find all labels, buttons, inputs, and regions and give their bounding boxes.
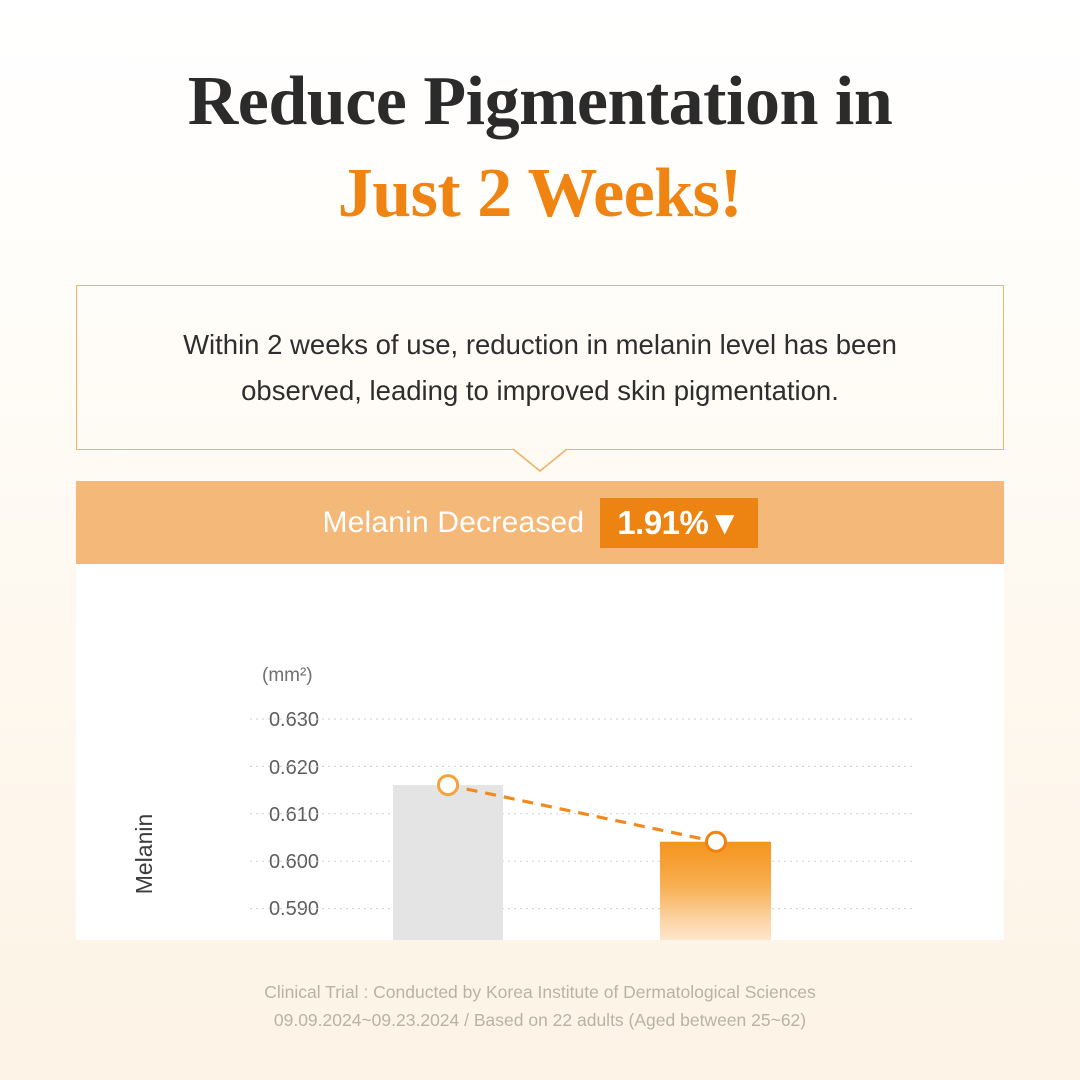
title-line-primary: Reduce Pigmentation in: [0, 56, 1080, 148]
y-tick-label: 0.620: [269, 757, 319, 779]
y-tick-label: 0.600: [269, 851, 319, 873]
callout-frame: Within 2 weeks of use, reduction in mela…: [76, 285, 1004, 450]
bar-after-2-weeks: [660, 842, 771, 940]
footer-note: Clinical Trial : Conducted by Korea Inst…: [0, 978, 1080, 1035]
page-title: Reduce Pigmentation in Just 2 Weeks!: [0, 0, 1080, 241]
callout-notch-icon: [512, 448, 568, 472]
callout-notch-mask: [513, 447, 567, 451]
y-axis-title: Melanin: [131, 814, 157, 895]
callout-text: Within 2 weeks of use, reduction in mela…: [125, 322, 955, 413]
bar-before: [393, 785, 503, 940]
y-axis-tick-labels: 0.630 0.620 0.610 0.600 0.590 0.580: [269, 709, 319, 940]
footer-line-1: Clinical Trial : Conducted by Korea Inst…: [0, 978, 1080, 1006]
chart-card: Melanin Decreased 1.91%▼ (mm²) 0.630 0.6…: [76, 481, 1004, 940]
banner-label: Melanin Decreased: [322, 506, 584, 540]
y-tick-label: 0.610: [269, 804, 319, 826]
status-badge: 1.91%▼: [600, 498, 757, 548]
chart-svg: (mm²) 0.630 0.620 0.610 0.600 0.590 0.58…: [76, 564, 1004, 940]
footer-line-2: 09.09.2024~09.23.2024 / Based on 22 adul…: [0, 1006, 1080, 1034]
y-tick-label: 0.630: [269, 709, 319, 731]
title-line-accent: Just 2 Weeks!: [0, 148, 1080, 240]
melanin-bar-chart: (mm²) 0.630 0.620 0.610 0.600 0.590 0.58…: [76, 564, 1004, 940]
y-axis-unit-label: (mm²): [262, 665, 313, 686]
data-point-after-2-weeks: [707, 832, 726, 851]
callout-box: Within 2 weeks of use, reduction in mela…: [76, 285, 1004, 450]
melanin-decrease-banner: Melanin Decreased 1.91%▼: [76, 481, 1004, 564]
data-point-before: [439, 776, 458, 795]
